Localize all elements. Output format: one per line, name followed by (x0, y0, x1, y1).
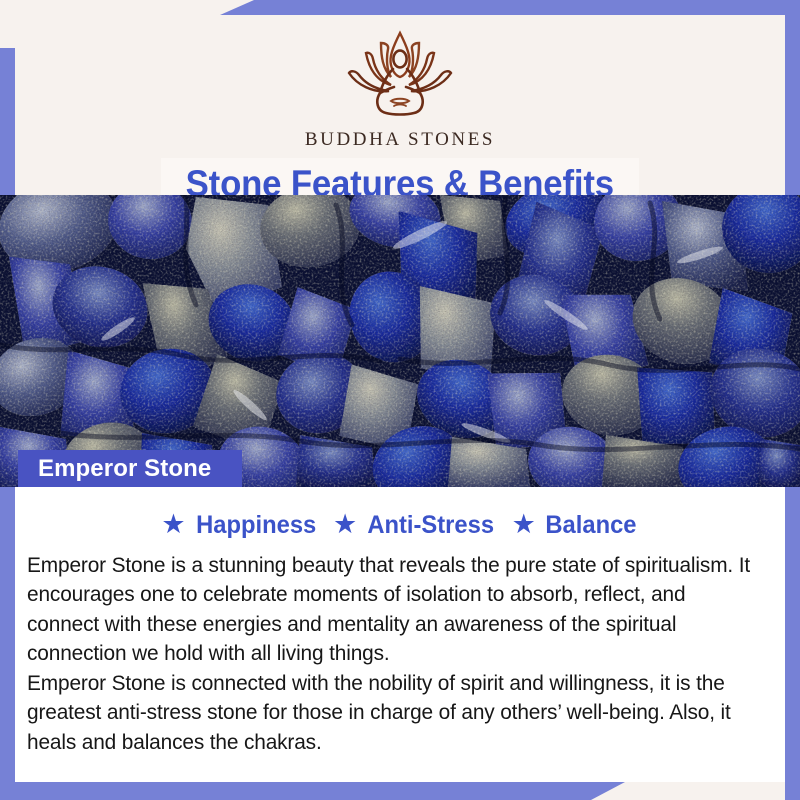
description-paragraph: Emperor Stone is a stunning beauty that … (27, 551, 755, 669)
brand-logo: BUDDHA STONES (305, 27, 495, 151)
benefit-item-anti-stress: ★ Anti-Stress (333, 511, 498, 540)
benefit-item-happiness: ★ Happiness (161, 511, 319, 540)
benefit-label: Balance (545, 511, 636, 540)
poster-header: BUDDHA STONES Stone Features & Benefits (15, 15, 785, 195)
description-panel: ★ Happiness ★ Anti-Stress ★ Balance Empe… (15, 487, 785, 782)
benefit-item-balance: ★ Balance (512, 511, 639, 540)
stone-label-bar: Emperor Stone (18, 450, 242, 487)
hero-stone-image: Emperor Stone (0, 195, 800, 487)
stone-name-label: Emperor Stone (38, 455, 211, 483)
benefit-label: Happiness (196, 511, 316, 540)
frame-band-top (220, 0, 800, 15)
description-paragraph: Emperor Stone is connected with the nobi… (27, 669, 755, 757)
frame-band-bottom (0, 782, 625, 800)
benefit-label: Anti-Stress (368, 511, 495, 540)
lotus-meditation-icon (341, 27, 459, 124)
product-info-poster: BUDDHA STONES Stone Features & Benefits (0, 0, 800, 800)
star-icon: ★ (161, 511, 185, 538)
benefits-row: ★ Happiness ★ Anti-Stress ★ Balance (15, 511, 785, 540)
brand-name: BUDDHA STONES (305, 129, 495, 151)
star-icon: ★ (512, 511, 536, 538)
star-icon: ★ (333, 511, 357, 538)
description-text: Emperor Stone is a stunning beauty that … (15, 551, 785, 757)
